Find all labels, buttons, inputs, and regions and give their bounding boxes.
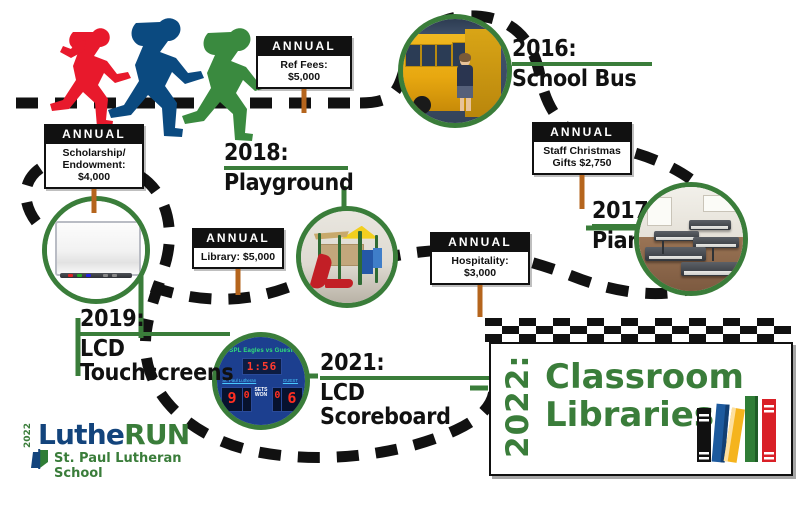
lutherun-logo: 2022 LutheRUN St. Paul Lutheran School <box>24 420 204 478</box>
milestone-label-2016: 2016: School Bus <box>512 38 652 91</box>
school-bus-photo <box>398 14 512 128</box>
logo-word-luthe: Luthe <box>38 418 124 451</box>
book-green <box>745 396 758 462</box>
scoreboard-guest-score: 6 <box>282 389 301 407</box>
title-2019: LCD Touchscreens <box>80 337 230 386</box>
milestone-label-2018: 2018: Playground <box>224 142 348 195</box>
year-2019: 2019: <box>80 308 230 331</box>
books-icon <box>695 382 779 466</box>
logo-wordmark: LutheRUN <box>38 418 189 451</box>
classroom-libraries-panel: 2022: Classroom Libraries <box>489 342 789 472</box>
panel-year-2022: 2022: <box>503 356 534 458</box>
scoreboard-clock: 1:56 <box>243 360 282 373</box>
sign-post <box>92 189 97 213</box>
logo-word-run: RUN <box>124 418 189 451</box>
logo-year: 2022 <box>24 422 33 448</box>
sign-body-ref-fees: Ref Fees: $5,000 <box>258 56 350 87</box>
sign-post <box>478 285 483 317</box>
sign-post <box>302 89 307 113</box>
scoreboard-sets-label: SETS WON <box>250 388 273 398</box>
year-2021: 2021: <box>320 352 490 375</box>
title-2016: School Bus <box>512 67 652 91</box>
sign-header-staff-christmas: ANNUAL <box>534 124 630 142</box>
title-2018: Playground <box>224 171 348 195</box>
scoreboard-title: SPL Eagles vs Guest <box>217 348 305 354</box>
annual-sign-library: ANNUAL Library: $5,000 <box>192 228 284 269</box>
scoreboard-guest-team: GUEST <box>283 378 298 383</box>
sign-body-library: Library: $5,000 <box>194 248 282 267</box>
piano-lab-photo <box>634 182 748 296</box>
playground-photo <box>296 206 398 308</box>
sign-post <box>236 269 241 295</box>
checkered-flag-banner <box>485 318 791 342</box>
sign-header-scholarship: ANNUAL <box>46 126 142 144</box>
milestone-label-2019: 2019: LCD Touchscreens <box>80 308 230 386</box>
sailboat-cross-icon <box>30 448 52 470</box>
annual-sign-hospitality: ANNUAL Hospitality: $3,000 <box>430 232 530 285</box>
sign-body-scholarship: Scholarship/ Endowment: $4,000 <box>46 144 142 187</box>
sign-header-library: ANNUAL <box>194 230 282 248</box>
logo-subtitle: St. Paul Lutheran School <box>54 451 204 481</box>
annual-sign-staff-christmas: ANNUAL Staff Christmas Gifts $2,750 <box>532 122 632 175</box>
milestone-label-2021: 2021: LCD Scoreboard <box>320 352 490 430</box>
sign-header-ref-fees: ANNUAL <box>258 38 350 56</box>
scoreboard-home-score: 9 <box>222 389 241 407</box>
book-black <box>697 408 711 462</box>
annual-sign-scholarship: ANNUAL Scholarship/ Endowment: $4,000 <box>44 124 144 189</box>
annual-sign-ref-fees: ANNUAL Ref Fees: $5,000 <box>256 36 352 89</box>
scoreboard-guest-sets: 0 <box>273 390 281 401</box>
title-2021: LCD Scoreboard <box>320 381 490 430</box>
infographic-canvas: SPL Eagles vs Guest 1:56 St. Paul Luther… <box>0 0 798 507</box>
book-red <box>762 399 776 462</box>
year-2016: 2016: <box>512 38 652 61</box>
sign-post <box>580 175 585 209</box>
year-2018: 2018: <box>224 142 348 165</box>
sign-header-hospitality: ANNUAL <box>432 234 528 252</box>
runner-blue-icon <box>108 18 204 137</box>
sign-body-hospitality: Hospitality: $3,000 <box>432 252 528 283</box>
runner-red-icon <box>50 28 131 128</box>
sign-body-staff-christmas: Staff Christmas Gifts $2,750 <box>534 142 630 173</box>
